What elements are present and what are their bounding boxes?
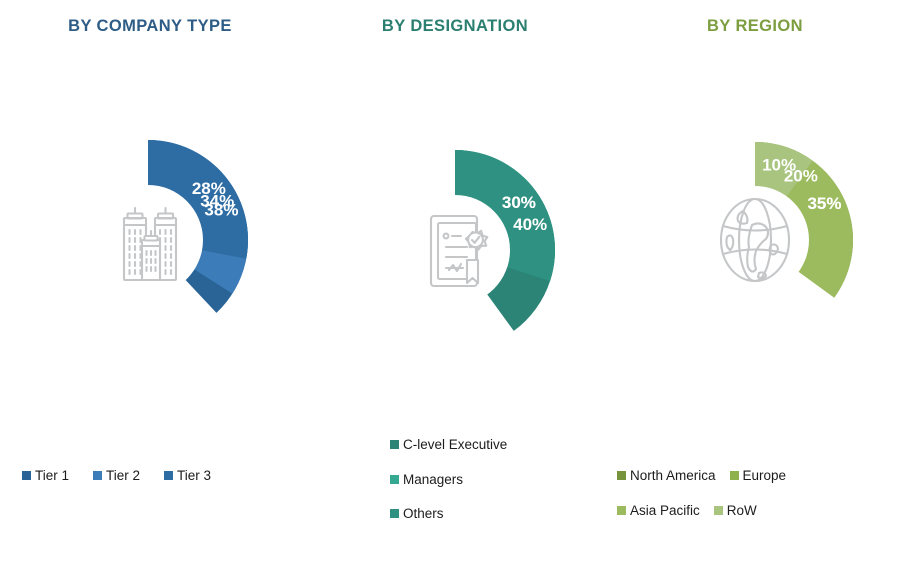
legend-designation: C-level Executive Managers Others — [390, 438, 507, 542]
legend-label-row: RoW — [727, 504, 757, 518]
legend-row: C-level Executive — [390, 438, 507, 452]
donut-hole — [701, 186, 809, 294]
legend-item-north-america[interactable]: North America — [617, 469, 716, 483]
legend-label-europe: Europe — [743, 469, 787, 483]
legend-label-c-level-executive: C-level Executive — [403, 438, 507, 452]
slice-value-c-level-executive: 40% — [513, 215, 547, 234]
legend-item-managers[interactable]: Managers — [390, 473, 463, 487]
legend-swatch-europe — [730, 471, 739, 480]
legend-swatch-c-level-executive — [390, 440, 399, 449]
legend-item-asia-pacific[interactable]: Asia Pacific — [617, 504, 700, 518]
legend-item-tier-1[interactable]: Tier 1 — [22, 469, 69, 483]
legend-item-europe[interactable]: Europe — [730, 469, 787, 483]
legend-company-type: Tier 1 Tier 2 Tier 3 — [22, 469, 302, 483]
legend-swatch-others — [390, 509, 399, 518]
slice-value-others: 30% — [502, 193, 536, 212]
legend-swatch-asia-pacific — [617, 506, 626, 515]
legend-row: Asia Pacific RoW — [617, 504, 887, 518]
donut-svg-company-type: 38%34%28% — [38, 130, 258, 350]
slice-value-tier-3: 28% — [192, 179, 226, 198]
legend-row: Managers — [390, 473, 507, 487]
slice-value-row: 10% — [762, 155, 796, 174]
legend-swatch-row — [714, 506, 723, 515]
donut-svg-region: 35%20%35%10% — [648, 133, 862, 347]
donut-chart-company-type: 38%34%28% — [38, 130, 258, 350]
legend-swatch-tier-1 — [22, 471, 31, 480]
legend-swatch-north-america — [617, 471, 626, 480]
legend-label-others: Others — [403, 507, 444, 521]
donut-svg-designation: 40%30%30% — [345, 140, 565, 360]
panel-title-designation: BY DESIGNATION — [320, 17, 590, 36]
panel-title-company-type: BY COMPANY TYPE — [0, 17, 300, 36]
legend-row: Tier 1 Tier 2 Tier 3 — [22, 469, 302, 483]
legend-item-row[interactable]: RoW — [714, 504, 757, 518]
legend-label-tier-2: Tier 2 — [106, 469, 140, 483]
donut-chart-designation: 40%30%30% — [345, 140, 565, 360]
panel-title-region: BY REGION — [620, 17, 890, 36]
legend-swatch-tier-3 — [164, 471, 173, 480]
legend-item-others[interactable]: Others — [390, 507, 444, 521]
legend-label-tier-3: Tier 3 — [177, 469, 211, 483]
donut-hole — [400, 195, 510, 305]
chart-canvas: BY COMPANY TYPE BY DESIGNATION BY REGION — [0, 0, 900, 574]
legend-item-tier-3[interactable]: Tier 3 — [164, 469, 211, 483]
legend-label-managers: Managers — [403, 473, 463, 487]
legend-swatch-tier-2 — [93, 471, 102, 480]
legend-swatch-managers — [390, 475, 399, 484]
legend-row: North America Europe — [617, 469, 887, 483]
legend-row: Others — [390, 507, 507, 521]
legend-region: North America Europe Asia Pacific RoW — [617, 469, 887, 538]
donut-chart-region: 35%20%35%10% — [648, 133, 862, 347]
legend-label-tier-1: Tier 1 — [35, 469, 69, 483]
legend-label-north-america: North America — [630, 469, 716, 483]
legend-label-asia-pacific: Asia Pacific — [630, 504, 700, 518]
slice-value-asia-pacific: 35% — [807, 194, 841, 213]
legend-item-tier-2[interactable]: Tier 2 — [93, 469, 140, 483]
legend-item-c-level-executive[interactable]: C-level Executive — [390, 438, 507, 452]
